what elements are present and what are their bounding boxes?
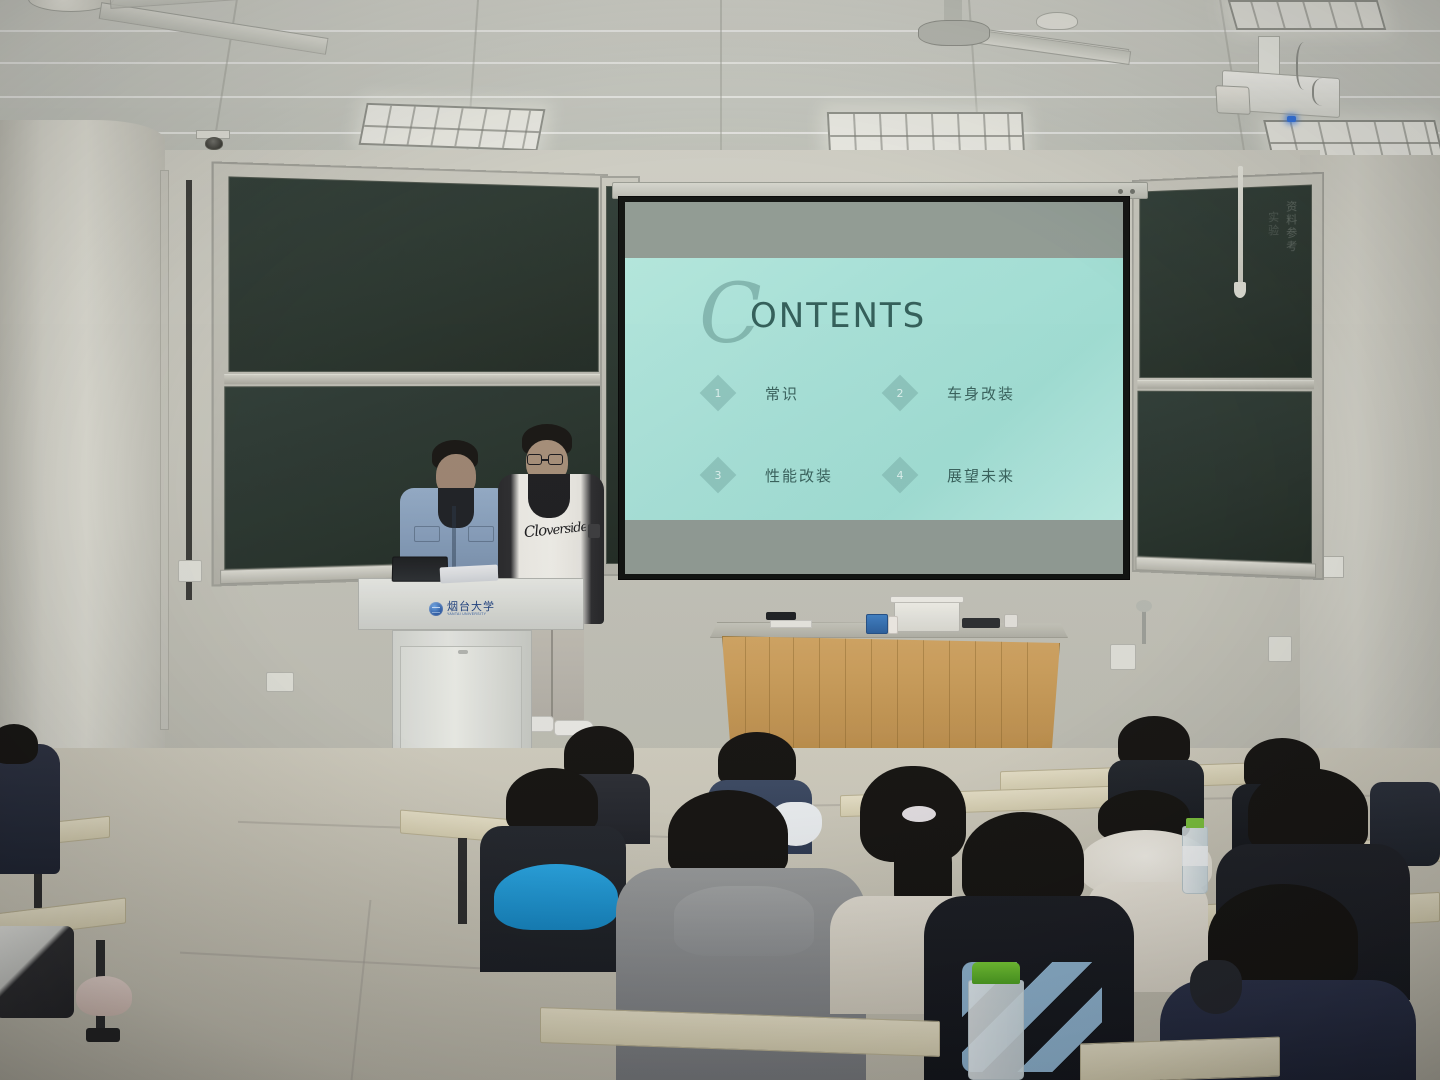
glasses-icon: [548, 454, 563, 465]
white-storage-box[interactable]: [894, 600, 960, 632]
wall-conduit: [160, 170, 169, 730]
toc-label: 常识: [765, 383, 799, 404]
chalk-writing: 实验: [1265, 211, 1281, 238]
slide-title: ONTENTS: [750, 296, 926, 336]
podium-logo: 烟台大学 YANTAI UNIVERSITY: [429, 601, 495, 617]
power-outlet-icon[interactable]: [178, 560, 202, 582]
recessed-light-icon: [1228, 0, 1387, 30]
university-name-cn: 烟台大学: [447, 601, 495, 612]
bag-on-desk: [0, 926, 74, 1018]
toc-number: 2: [897, 387, 904, 400]
student-blue-hoodie: [488, 768, 616, 968]
jacket-pocket: [468, 526, 494, 542]
mic-stand: [1142, 608, 1146, 644]
toc-diamond-icon: 3: [700, 457, 737, 494]
recessed-light-icon: [359, 103, 546, 151]
hood-blue: [494, 864, 618, 930]
projector-led-indicator: [1287, 116, 1296, 122]
remote-control[interactable]: [962, 618, 1000, 628]
projection-screen: C ONTENTS 1 常识 2 车身改装 3 性能改装: [625, 202, 1123, 574]
white-bottle[interactable]: [888, 616, 898, 634]
university-name-en: YANTAI UNIVERSITY: [447, 613, 495, 617]
fan-hub: [918, 20, 990, 46]
university-emblem-icon: [429, 602, 443, 616]
blue-box[interactable]: [866, 614, 888, 634]
projector-cable: [1312, 78, 1338, 106]
wall-conduit: [186, 180, 192, 600]
power-outlet-icon[interactable]: [266, 672, 294, 692]
toc-label: 展望未来: [947, 465, 1015, 486]
toc-diamond-icon: 1: [700, 375, 737, 412]
box-lid: [890, 596, 964, 603]
jacket-pocket: [414, 526, 440, 542]
water-bottle-green-cap[interactable]: [968, 980, 1024, 1080]
toc-diamond-icon: 4: [882, 457, 919, 494]
blackboard-panel: [228, 176, 598, 372]
presentation-notes: [440, 564, 499, 583]
smoke-detector-icon: [1036, 12, 1078, 30]
bottle-cap-icon: [972, 962, 1020, 984]
chalk-writing: 资料参考: [1283, 200, 1299, 253]
pull-cord[interactable]: [1238, 166, 1243, 286]
blackboard-rail: [224, 374, 600, 384]
toc-item-1[interactable]: 1 常识: [705, 380, 799, 406]
toc-item-2[interactable]: 2 车身改装: [887, 380, 1015, 406]
bottle-label: [1182, 846, 1208, 866]
toc-label: 性能改装: [765, 465, 833, 486]
mic-head-icon: [1136, 600, 1152, 612]
bottle-cap-icon: [1186, 818, 1204, 828]
blackboard-panel: 资料参考 实验: [1139, 185, 1312, 379]
glasses-icon: [527, 454, 542, 465]
glasses-bridge: [542, 459, 548, 461]
hair-tie-icon: [902, 806, 936, 822]
toc-number: 4: [897, 469, 904, 482]
jacket-sleeve-patch: [588, 524, 600, 538]
toc-item-3[interactable]: 3 性能改装: [705, 462, 833, 488]
blackboard-right: 资料参考 实验: [1132, 172, 1324, 580]
dome-camera-icon: [205, 137, 223, 150]
desk-foot: [86, 1028, 120, 1042]
toc-number: 3: [715, 469, 722, 482]
face-mask-icon: [1190, 960, 1242, 1014]
projector-lens-icon: [1215, 85, 1250, 115]
slide-canvas: C ONTENTS 1 常识 2 车身改装 3 性能改装: [625, 258, 1123, 520]
classroom-photo: 资料参考 实验 C ONTENTS 1 常识 2: [0, 0, 1440, 1080]
jacket-inner-collar: [528, 474, 570, 518]
trousers-seam: [551, 630, 553, 724]
toc-diamond-icon: 2: [882, 375, 919, 412]
power-outlet-icon[interactable]: [1110, 644, 1136, 670]
small-cup[interactable]: [1004, 614, 1018, 628]
toc-number: 1: [715, 387, 722, 400]
jacket-inner-collar: [438, 488, 474, 528]
phone[interactable]: [766, 612, 796, 620]
wall-pillar: [0, 120, 165, 820]
toc-item-4[interactable]: 4 展望未来: [887, 462, 1015, 488]
student-desk: [1080, 1037, 1280, 1080]
power-outlet-icon[interactable]: [1268, 636, 1292, 662]
paper-sheet[interactable]: [770, 620, 812, 628]
blackboard-rail: [1137, 380, 1314, 389]
pull-cord-handle[interactable]: [1234, 282, 1246, 298]
toc-label: 车身改装: [947, 383, 1015, 404]
pink-cap: [76, 976, 132, 1016]
podium-door-handle[interactable]: [458, 650, 468, 654]
desk-leg: [458, 838, 467, 924]
blackboard-panel: [1137, 391, 1312, 564]
hood: [674, 886, 814, 956]
